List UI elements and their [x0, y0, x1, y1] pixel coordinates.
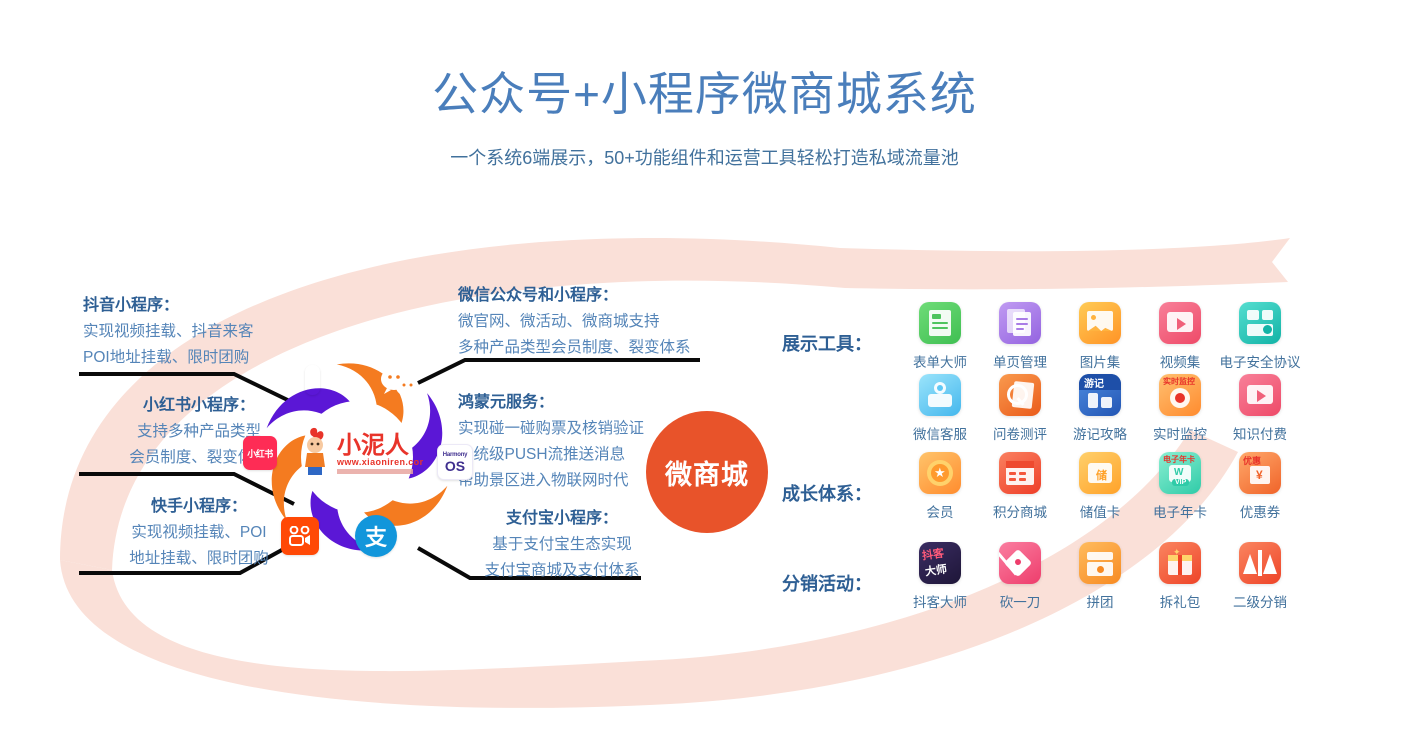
callout-wechat: 微信公众号和小程序： 微官网、微活动、微商城支持 多种产品类型会员制度、裂变体系 — [458, 283, 691, 361]
two-level-dist-icon — [1239, 542, 1281, 584]
tile-image-gallery[interactable]: 图片集 — [1060, 302, 1140, 371]
feature-row-display-secondary: 微信客服 问卷测评 游记 游记攻略 实时监控 — [900, 374, 1300, 443]
callout-alipay: 支付宝小程序： 基于支付宝生态实现 支付宝商城及支付体系 — [448, 506, 676, 584]
page-title: 公众号+小程序微商城系统 — [0, 58, 1409, 124]
annual-card-icon: 电子年卡 W VIP — [1159, 452, 1201, 494]
tile-stored-card-label: 储值卡 — [1080, 501, 1121, 521]
single-page-icon — [999, 302, 1041, 344]
tile-two-level-dist-label: 二级分销 — [1233, 591, 1287, 611]
open-gift-icon: ✦ — [1159, 542, 1201, 584]
tile-open-gift[interactable]: ✦ 拆礼包 — [1140, 542, 1220, 611]
bargain-icon — [999, 542, 1041, 584]
callout-alipay-heading: 支付宝小程序： — [448, 506, 676, 532]
callout-harmonyos-line-3: 帮助景区进入物联网时代 — [458, 468, 644, 494]
points-mall-icon — [999, 452, 1041, 494]
weishangcheng-circle: 微商城 — [646, 411, 768, 533]
travel-guide-icon: 游记 — [1079, 374, 1121, 416]
tile-paid-knowledge[interactable]: 知识付费 — [1220, 374, 1300, 443]
callout-harmonyos: 鸿蒙元服务： 实现碰一碰购票及核销验证 系统级PUSH流推送消息 帮助景区进入物… — [458, 390, 644, 494]
tile-paid-knowledge-label: 知识付费 — [1233, 423, 1287, 443]
callout-harmonyos-line-1: 实现碰一碰购票及核销验证 — [458, 416, 644, 442]
harmonyos-badge-big: OS — [445, 459, 465, 473]
survey-icon — [999, 374, 1041, 416]
tile-open-gift-label: 拆礼包 — [1160, 591, 1201, 611]
tile-form-master[interactable]: 表单大师 — [900, 302, 980, 371]
e-safety-agreement-icon — [1239, 302, 1281, 344]
stored-card-icon: 储 — [1079, 452, 1121, 494]
callout-alipay-line-1: 基于支付宝生态实现 — [448, 532, 676, 558]
tile-live-monitor-label: 实时监控 — [1153, 423, 1207, 443]
callout-wechat-line-1: 微官网、微活动、微商城支持 — [458, 309, 691, 335]
paid-knowledge-icon — [1239, 374, 1281, 416]
tile-coupon[interactable]: 优惠 ¥ 优惠券 — [1220, 452, 1300, 521]
svg-text:www.xiaoniren.com: www.xiaoniren.com — [336, 457, 423, 467]
tile-live-monitor[interactable]: 实时监控 实时监控 — [1140, 374, 1220, 443]
tile-stored-card[interactable]: 储 储值卡 — [1060, 452, 1140, 521]
douke-master-icon: 抖客 大师 — [919, 542, 961, 584]
member-icon: ★ — [919, 452, 961, 494]
feature-row-display-label: 展示工具： — [782, 302, 900, 356]
tile-e-safety-agreement[interactable]: 电子安全协议 — [1220, 302, 1300, 371]
tile-annual-card[interactable]: 电子年卡 W VIP 电子年卡 — [1140, 452, 1220, 521]
tile-bargain[interactable]: 砍一刀 — [980, 542, 1060, 611]
tile-image-gallery-label: 图片集 — [1080, 351, 1121, 371]
form-master-icon — [919, 302, 961, 344]
tile-points-mall[interactable]: 积分商城 — [980, 452, 1060, 521]
tile-travel-guide-label: 游记攻略 — [1073, 423, 1127, 443]
tile-douke-master[interactable]: 抖客 大师 抖客大师 — [900, 542, 980, 611]
feature-row-growth-label: 成长体系： — [782, 452, 900, 506]
group-buy-icon — [1079, 542, 1121, 584]
tile-single-page-label: 单页管理 — [993, 351, 1047, 371]
tile-douke-master-label: 抖客大师 — [913, 591, 967, 611]
tile-coupon-label: 优惠券 — [1240, 501, 1281, 521]
platform-swirl: 小泥人 www.xiaoniren.com ♪ Harmony OS 支 — [243, 343, 471, 571]
callout-douyin-heading: 抖音小程序： — [83, 293, 254, 319]
callout-wechat-heading: 微信公众号和小程序： — [458, 283, 691, 309]
callout-alipay-line-2: 支付宝商城及支付体系 — [448, 558, 676, 584]
tile-annual-card-label: 电子年卡 — [1153, 501, 1207, 521]
tile-e-safety-agreement-label: 电子安全协议 — [1220, 351, 1301, 371]
feature-row-distribution: 分销活动： 抖客 大师 抖客大师 砍一刀 拼团 — [782, 542, 1300, 611]
tile-travel-guide[interactable]: 游记 游记攻略 — [1060, 374, 1140, 443]
tile-video-gallery[interactable]: 视频集 — [1140, 302, 1220, 371]
tile-survey[interactable]: 问卷测评 — [980, 374, 1060, 443]
tile-single-page[interactable]: 单页管理 — [980, 302, 1060, 371]
coupon-icon: 优惠 ¥ — [1239, 452, 1281, 494]
alipay-badge: 支 — [355, 515, 397, 557]
callout-douyin-line-1: 实现视频挂载、抖音来客 — [83, 319, 254, 345]
douyin-badge: ♪ — [305, 365, 320, 395]
tile-video-gallery-label: 视频集 — [1160, 351, 1201, 371]
live-monitor-icon: 实时监控 — [1159, 374, 1201, 416]
tile-member-label: 会员 — [927, 501, 954, 521]
harmonyos-badge-small: Harmony — [443, 452, 468, 458]
feature-row-distribution-label: 分销活动： — [782, 542, 900, 596]
wechat-service-icon — [919, 374, 961, 416]
tile-wechat-service[interactable]: 微信客服 — [900, 374, 980, 443]
xiaohongshu-badge: 小红书 — [243, 436, 277, 470]
feature-row-display: 展示工具： 表单大师 单页管理 — [782, 302, 1300, 371]
callout-wechat-line-2: 多种产品类型会员制度、裂变体系 — [458, 335, 691, 361]
callout-harmonyos-line-2: 系统级PUSH流推送消息 — [458, 442, 644, 468]
callout-harmonyos-heading: 鸿蒙元服务： — [458, 390, 644, 416]
video-gallery-icon — [1159, 302, 1201, 344]
tile-two-level-dist[interactable]: 二级分销 — [1220, 542, 1300, 611]
tile-form-master-label: 表单大师 — [913, 351, 967, 371]
svg-text:小泥人: 小泥人 — [337, 432, 409, 459]
page-subtitle: 一个系统6端展示，50+功能组件和运营工具轻松打造私域流量池 — [0, 144, 1409, 170]
callout-douyin-line-2: POI地址挂载、限时团购 — [83, 345, 254, 371]
kuaishou-badge — [281, 517, 319, 555]
tile-survey-label: 问卷测评 — [993, 423, 1047, 443]
tile-group-buy[interactable]: 拼团 — [1060, 542, 1140, 611]
harmonyos-badge: Harmony OS — [437, 444, 473, 480]
image-gallery-icon — [1079, 302, 1121, 344]
tile-member[interactable]: ★ 会员 — [900, 452, 980, 521]
xiaoniren-logo: 小泥人 www.xiaoniren.com — [291, 421, 423, 483]
wechat-badge — [379, 367, 419, 399]
tile-points-mall-label: 积分商城 — [993, 501, 1047, 521]
tile-wechat-service-label: 微信客服 — [913, 423, 967, 443]
tile-bargain-label: 砍一刀 — [1000, 591, 1041, 611]
tile-group-buy-label: 拼团 — [1087, 591, 1114, 611]
feature-row-growth: 成长体系： ★ 会员 积分商城 储 — [782, 452, 1300, 521]
callout-douyin: 抖音小程序： 实现视频挂载、抖音来客 POI地址挂载、限时团购 — [83, 293, 254, 371]
